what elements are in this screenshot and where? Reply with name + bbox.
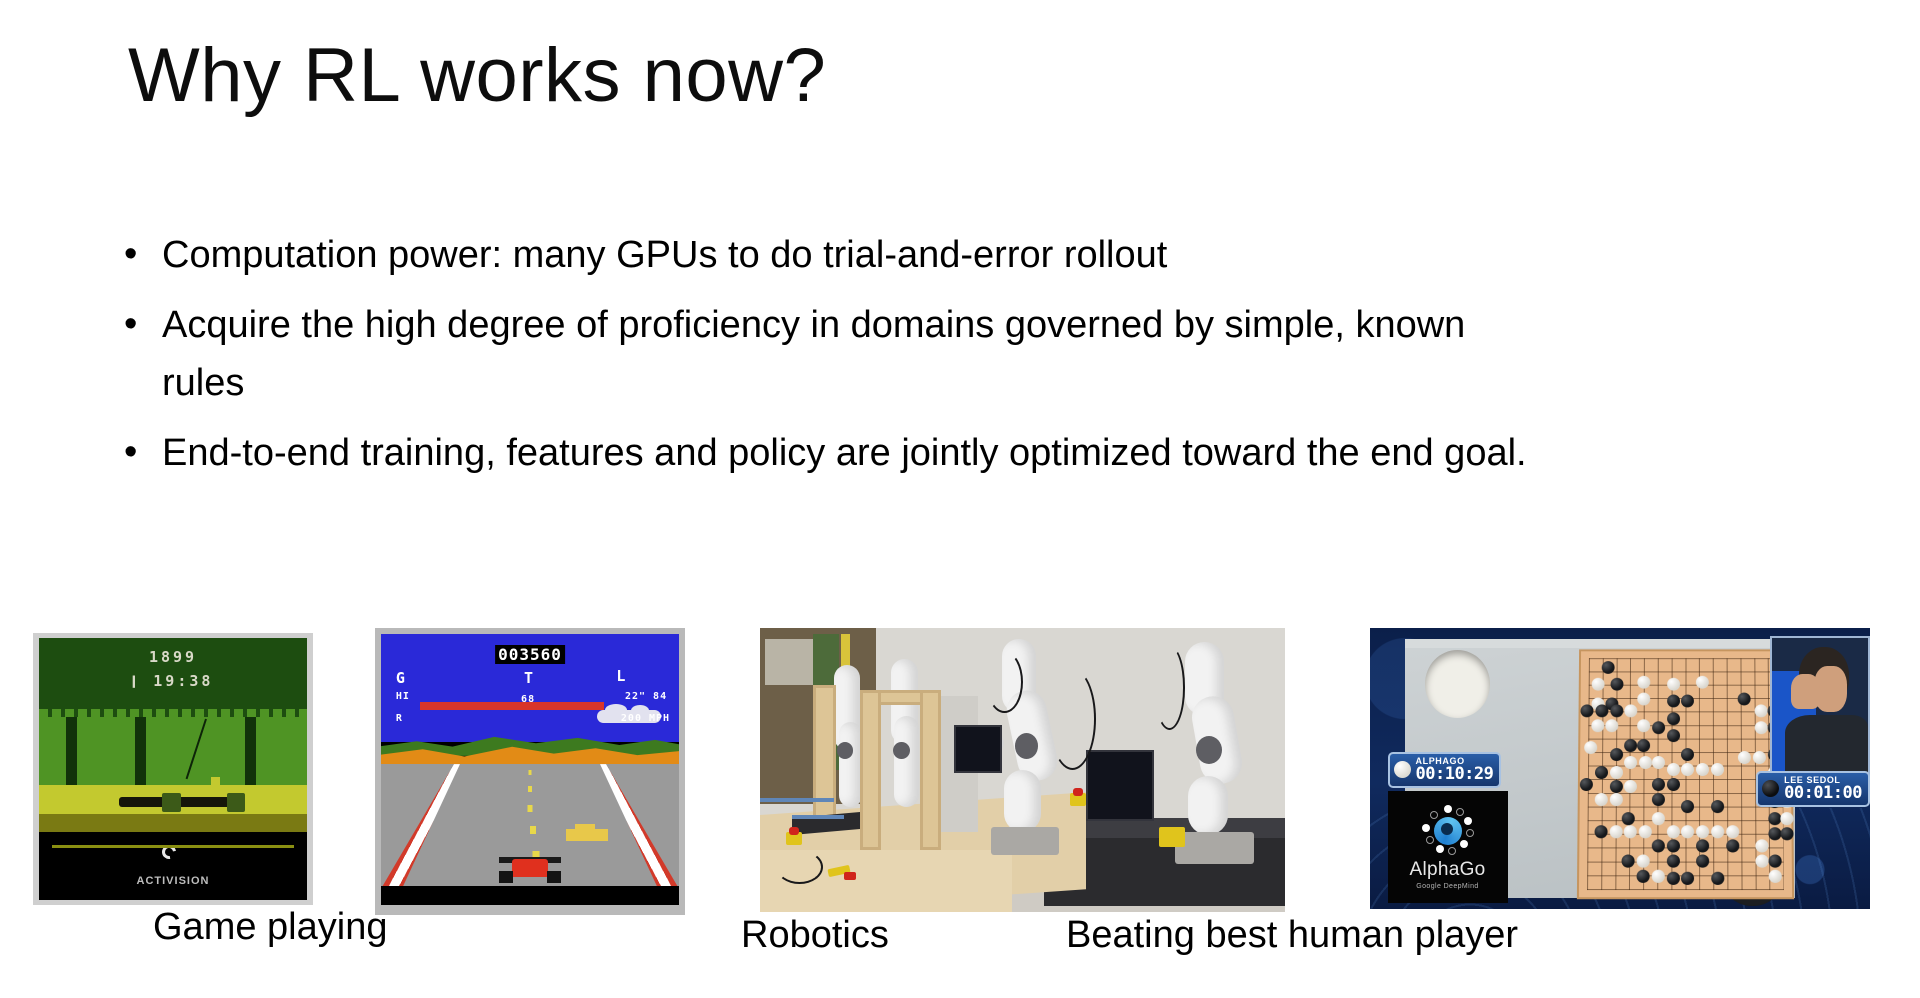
caption-game-playing: Game playing <box>153 905 387 949</box>
go-stone-black <box>1710 800 1723 813</box>
racing-gear-label: G <box>396 669 405 687</box>
go-stone-white <box>1780 812 1793 825</box>
lee-sedol-hand <box>1791 674 1820 709</box>
go-stone-black <box>1594 825 1607 838</box>
logo-ring-dot <box>1422 824 1430 832</box>
go-stone-black <box>1621 854 1634 867</box>
figure-robotics-photo <box>760 628 1285 912</box>
go-stone-black <box>1725 839 1738 852</box>
pitfall-tree-trunk <box>66 717 77 785</box>
racing-lap-label: L <box>616 667 625 685</box>
black-stone-icon <box>1762 780 1779 797</box>
go-stone-black <box>1595 704 1608 717</box>
go-stone-white <box>1594 792 1607 805</box>
racing-car-body <box>512 859 548 877</box>
go-stone-white <box>1609 825 1622 838</box>
go-stone-white <box>1637 692 1650 705</box>
alphago-clock: 00:10:29 <box>1416 766 1494 783</box>
pitfall-score-bar <box>52 845 293 848</box>
racing-screen: 003560 G HI R T 68 L 22" 84 200 MPH <box>381 634 679 905</box>
cable <box>1049 668 1096 770</box>
alphago-timer-badge: ALPHAGO 00:10:29 <box>1388 752 1502 788</box>
go-stone-white <box>1754 704 1767 717</box>
wooden-frame-post <box>920 690 941 849</box>
go-stone-black <box>1768 854 1781 867</box>
pitfall-score: 1899 <box>149 648 197 666</box>
emergency-stop-button <box>1070 793 1086 806</box>
player-camera-inset <box>1770 636 1870 777</box>
go-stone-white <box>1623 825 1636 838</box>
go-stone-black <box>1637 738 1650 751</box>
pitfall-timer: ❙ 19:38 <box>129 672 213 690</box>
go-stone-white <box>1624 704 1637 717</box>
lab-monitor <box>954 725 1001 773</box>
go-stone-black <box>1681 748 1694 761</box>
robot-arm-link <box>1004 770 1041 832</box>
go-stone-white <box>1725 825 1738 838</box>
go-stone-white <box>1681 825 1694 838</box>
go-stone-black <box>1780 827 1793 840</box>
deepmind-subtitle: Google DeepMind <box>1416 883 1478 890</box>
go-stone-white <box>1637 719 1650 732</box>
robot-arm-link <box>1188 776 1228 836</box>
go-stone-black <box>1601 661 1614 674</box>
go-stone-black <box>1624 738 1637 751</box>
go-stone-black <box>1651 792 1664 805</box>
caption-alphago: Beating best human player <box>1066 913 1518 957</box>
go-stone-black <box>1768 812 1781 825</box>
go-stone-white <box>1651 812 1664 825</box>
racing-progress-bar <box>420 702 605 710</box>
logo-ring-dot <box>1436 845 1444 853</box>
racing-bottom-bar <box>381 886 679 905</box>
go-stone-black <box>1621 812 1634 825</box>
go-stone-black <box>1594 765 1607 778</box>
racing-lane-dash <box>529 770 532 775</box>
robot-arm-joint <box>893 742 910 759</box>
go-stone-white <box>1738 751 1751 764</box>
go-stone-black <box>1651 839 1664 852</box>
go-stone-black <box>1651 778 1664 791</box>
blue-tape-marker <box>792 815 845 819</box>
racing-lane-dash <box>528 786 532 792</box>
logo-ring-dot <box>1426 836 1434 844</box>
go-stone-white <box>1651 869 1664 882</box>
go-stone-white <box>1639 756 1652 769</box>
robot-arm-link <box>839 722 862 807</box>
go-stone-black <box>1579 778 1592 791</box>
racing-car-wheel <box>547 871 561 883</box>
go-stone-black <box>1666 694 1679 707</box>
go-stone-white <box>1609 765 1622 778</box>
go-stone-white <box>1755 854 1768 867</box>
lee-sedol-timer-text: LEE SEDOL 00:01:00 <box>1784 775 1862 802</box>
racing-speed: 200 MPH <box>621 713 670 724</box>
figure-atari-racing-screenshot: 003560 G HI R T 68 L 22" 84 200 MPH <box>375 628 685 915</box>
logo-ring-dot <box>1460 840 1468 848</box>
go-stone-black <box>1609 748 1622 761</box>
go-stone-white <box>1637 675 1650 688</box>
pitfall-publisher-logo: ACTIVISION <box>137 875 210 887</box>
caption-robotics: Robotics <box>741 913 889 957</box>
go-stone-black <box>1609 704 1622 717</box>
racing-time-label: T <box>524 669 533 687</box>
go-stone-white <box>1584 741 1597 754</box>
robot-base <box>991 827 1059 855</box>
lee-sedol-clock: 00:01:00 <box>1784 785 1862 802</box>
blue-tape-marker <box>760 798 834 802</box>
go-stone-white <box>1752 751 1765 764</box>
racing-rank-label: R <box>396 713 403 724</box>
go-stone-black <box>1610 678 1623 691</box>
racing-lap-value: 22" 84 <box>625 691 667 702</box>
logo-ring-dot <box>1430 811 1438 819</box>
emergency-stop-button <box>786 832 802 845</box>
alphago-timer-text: ALPHAGO 00:10:29 <box>1416 756 1494 783</box>
go-stone-white <box>1696 763 1709 776</box>
go-stone-white <box>1710 763 1723 776</box>
go-stone-white <box>1609 792 1622 805</box>
go-stone-white <box>1681 763 1694 776</box>
cable <box>1154 645 1186 730</box>
go-stone-white <box>1666 825 1679 838</box>
robot-arm-joint <box>1196 736 1222 764</box>
figure-strip: 1899 ❙ 19:38 ACTIVISION <box>0 0 1920 998</box>
go-stone-white <box>1695 675 1708 688</box>
pitfall-log-knot <box>227 793 246 813</box>
lee-sedol-timer-badge: LEE SEDOL 00:01:00 <box>1756 771 1870 807</box>
go-stone-black <box>1636 869 1649 882</box>
pitfall-canopy <box>39 709 307 730</box>
go-stone-black <box>1681 872 1694 885</box>
go-stone-white <box>1754 721 1767 734</box>
alphago-logo-mark-icon <box>1422 805 1474 857</box>
alphago-logo: AlphaGo Google DeepMind <box>1388 791 1508 903</box>
go-stone-black <box>1609 780 1622 793</box>
go-stone-white <box>1636 854 1649 867</box>
go-stone-black <box>1768 827 1781 840</box>
logo-ring-dot <box>1444 805 1452 813</box>
go-stone-white <box>1638 825 1651 838</box>
pitfall-hud-panel <box>39 832 307 900</box>
pitfall-tree-trunk <box>245 717 256 785</box>
go-stone-white <box>1666 678 1679 691</box>
robot-arm-joint <box>1015 733 1038 759</box>
go-stone-white <box>1755 839 1768 852</box>
go-stone-black <box>1681 694 1694 707</box>
logo-ring-dot <box>1466 829 1474 837</box>
go-stone-white <box>1696 825 1709 838</box>
go-stone-black <box>1696 854 1709 867</box>
go-stone-black <box>1666 712 1679 725</box>
racing-score: 003560 <box>495 645 565 664</box>
racing-car-wheel <box>499 871 513 883</box>
figure-atari-pitfall-screenshot: 1899 ❙ 19:38 ACTIVISION <box>33 633 313 905</box>
go-stone-black <box>1666 778 1679 791</box>
go-stone-black <box>1666 729 1679 742</box>
racing-time-value: 68 <box>521 694 535 705</box>
racing-rival-car <box>566 829 608 841</box>
logo-ring-dot <box>1456 808 1464 816</box>
cable <box>776 850 823 884</box>
white-stone-icon <box>1394 761 1411 778</box>
go-stone-white <box>1710 825 1723 838</box>
pitfall-tree-trunk <box>135 717 146 785</box>
go-stone-black <box>1651 721 1664 734</box>
go-stone-black <box>1666 854 1679 867</box>
pitfall-screen: 1899 ❙ 19:38 ACTIVISION <box>39 638 307 900</box>
go-stone-white <box>1624 780 1637 793</box>
go-stone-white <box>1590 719 1603 732</box>
go-stone-black <box>1711 872 1724 885</box>
robot-arm-joint <box>837 742 854 759</box>
deepmind-spiral-icon <box>1434 817 1462 845</box>
racing-lane-dash <box>530 826 536 834</box>
go-stone-white <box>1768 869 1781 882</box>
go-stone-white <box>1591 678 1604 691</box>
logo-ring-dot <box>1464 817 1472 825</box>
lab-perforated-panel <box>765 639 812 684</box>
go-stone-white <box>1666 763 1679 776</box>
go-stone-white <box>1624 756 1637 769</box>
alphago-wordmark: AlphaGo <box>1409 859 1485 881</box>
white-stone-bowl <box>1425 650 1490 717</box>
pitfall-log-knot <box>162 793 181 813</box>
red-part <box>844 872 856 880</box>
go-stone-black <box>1580 704 1593 717</box>
lee-sedol-body <box>1785 715 1868 775</box>
racing-lane-dash <box>528 805 533 812</box>
racing-hi-label: HI <box>396 691 410 702</box>
cable <box>986 651 1023 713</box>
robot-base <box>1175 832 1254 863</box>
robot-arm-link <box>894 716 918 807</box>
logo-ring-dot <box>1448 847 1456 855</box>
go-stone-black <box>1696 839 1709 852</box>
racing-player-car <box>499 857 561 883</box>
pitfall-dirt <box>39 814 307 832</box>
lab-monitor <box>1086 750 1154 821</box>
go-stone-white <box>1651 756 1664 769</box>
go-stone-black <box>1681 800 1694 813</box>
robot-end-effector-tool <box>1159 827 1185 847</box>
go-stone-black <box>1737 692 1750 705</box>
figure-alphago-broadcast: ALPHAGO 00:10:29 LEE SEDOL 00:01:00 <box>1370 628 1870 909</box>
wooden-frame-post <box>860 690 881 849</box>
go-stone-white <box>1605 719 1618 732</box>
